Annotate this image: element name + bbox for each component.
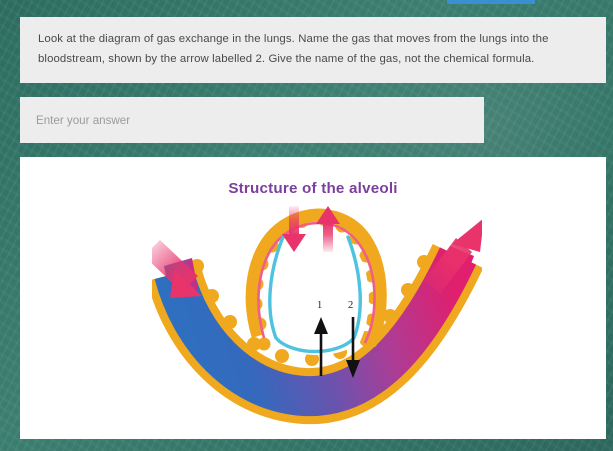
- quiz-screen: Look at the diagram of gas exchange in t…: [0, 0, 613, 451]
- top-progress-fill: [447, 0, 535, 4]
- question-card: Look at the diagram of gas exchange in t…: [20, 17, 606, 83]
- top-progress-bar: [0, 0, 613, 4]
- gas-arrow-label-1: 1: [317, 300, 322, 311]
- answer-input[interactable]: [20, 97, 484, 143]
- alveoli-diagram: 1 2: [152, 204, 482, 432]
- question-text: Look at the diagram of gas exchange in t…: [38, 30, 588, 69]
- diagram-title: Structure of the alveoli: [20, 180, 606, 197]
- alveolus-sac: [250, 214, 381, 362]
- gas-arrow-label-2: 2: [348, 300, 353, 311]
- diagram-panel: Structure of the alveoli: [20, 157, 606, 439]
